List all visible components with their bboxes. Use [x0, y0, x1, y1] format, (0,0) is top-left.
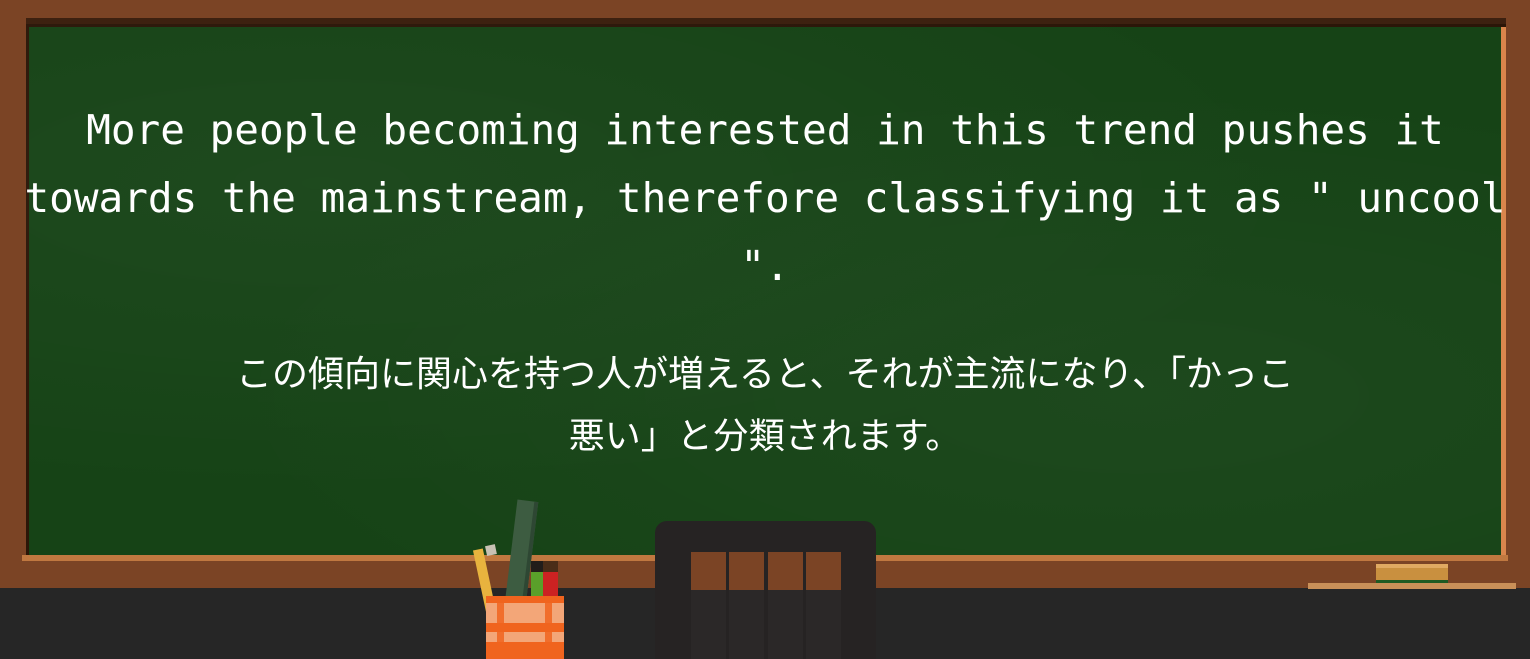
- red-marker-icon: [543, 572, 558, 598]
- chair-silhouette: [655, 521, 876, 659]
- cup-band: [486, 623, 564, 632]
- chair-slat-gap: [691, 552, 726, 590]
- english-line-1: More people becoming interested in this …: [0, 96, 1530, 164]
- japanese-line-1: この傾向に関心を持つ人が増えると、それが主流になり、「かっこ: [0, 344, 1530, 406]
- cup-body: [486, 596, 564, 659]
- eraser-top-highlight: [1376, 564, 1448, 568]
- chalkboard-scene: More people becoming interested in this …: [0, 0, 1530, 659]
- eraser-felt-pad: [1376, 580, 1448, 583]
- chair-slat-gap-lower: [729, 590, 764, 659]
- cup-band: [486, 596, 564, 603]
- english-line-3: ".: [0, 232, 1530, 300]
- japanese-line-2: 悪い」と分類されます。: [0, 406, 1530, 468]
- chair-slat-gap-lower: [806, 590, 841, 659]
- cup-band: [486, 642, 564, 659]
- chalkboard-text: More people becoming interested in this …: [0, 0, 1530, 468]
- chair-slat-gap: [806, 552, 841, 590]
- text-blank-line: [0, 300, 1530, 344]
- chair-slat-gap: [768, 552, 803, 590]
- chair-slat-gap-lower: [691, 590, 726, 659]
- pencil-holder-cup: [470, 500, 580, 659]
- pencil-tip-icon: [485, 544, 497, 556]
- marker-cap: [543, 561, 558, 572]
- chair-slat-gap: [729, 552, 764, 590]
- english-line-2: towards the mainstream, therefore classi…: [0, 164, 1530, 232]
- chair-backrest: [655, 521, 876, 659]
- chair-slat-gap-lower: [768, 590, 803, 659]
- chalk-tray: [1308, 583, 1516, 589]
